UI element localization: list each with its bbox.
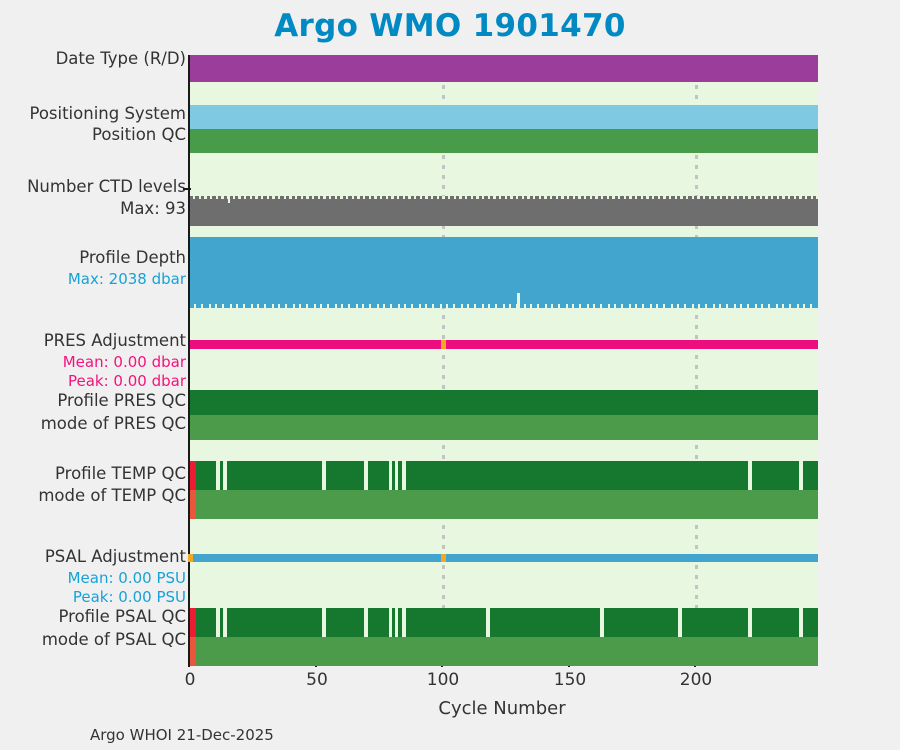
profile-psal-qc-gap <box>223 608 227 637</box>
profile-temp-qc-gap <box>216 461 220 490</box>
profile-temp-qc-gap <box>748 461 752 490</box>
row-label-position-qc: Position QC <box>92 126 186 145</box>
profile-psal-qc-gap <box>364 608 368 637</box>
xtick-label-200: 200 <box>680 670 712 690</box>
row-label-psal-adjustment-peak: Peak: 0.00 PSU <box>73 589 186 606</box>
profile-temp-qc-gap <box>389 461 392 490</box>
row-label-psal-adjustment-mean: Mean: 0.00 PSU <box>68 570 186 587</box>
row-label-pres-adjustment: PRES Adjustment <box>44 332 186 351</box>
row-label-pres-adjustment-peak: Peak: 0.00 dbar <box>68 373 186 390</box>
profile-psal-qc-gap <box>389 608 392 637</box>
page-title: Argo WMO 1901470 <box>0 8 900 44</box>
ctd-levels-axis-stub <box>183 188 191 190</box>
psal-adjustment-marker-cycle-0 <box>188 554 193 562</box>
x-axis-label: Cycle Number <box>188 698 816 719</box>
profile-psal-qc-gap <box>748 608 752 637</box>
band-position-qc <box>190 129 818 153</box>
profile-psal-qc-gap <box>322 608 326 637</box>
profile-psal-qc-gap <box>395 608 398 637</box>
mode-of-psal-qc-bad <box>190 637 196 666</box>
profile-temp-qc-bad <box>190 461 196 490</box>
row-label-profile-depth: Profile Depth <box>79 249 186 268</box>
profile-psal-qc-bad <box>190 608 196 637</box>
pres-adjustment-marker-cycle-100 <box>441 340 446 349</box>
profile-temp-qc-gap <box>364 461 368 490</box>
profile-psal-qc-gap <box>486 608 490 637</box>
band-positioning-system <box>190 105 818 129</box>
profile-depth-shallow-cycle <box>517 293 520 309</box>
band-profile-depth <box>190 237 818 307</box>
row-label-mode-of-pres-qc: mode of PRES QC <box>41 415 186 434</box>
xtick-label-50: 50 <box>306 670 328 690</box>
row-label-number-ctd-levels-max: Max: 93 <box>120 200 186 219</box>
band-profile-pres-qc <box>190 390 818 415</box>
band-date-type <box>190 55 818 82</box>
profile-temp-qc-gap <box>402 461 406 490</box>
row-label-psal-adjustment: PSAL Adjustment <box>45 548 186 567</box>
xtick-label-150: 150 <box>554 670 586 690</box>
profile-psal-qc-gap <box>678 608 682 637</box>
profile-temp-qc-gap <box>322 461 326 490</box>
row-label-positioning-system: Positioning System <box>29 105 186 124</box>
band-number-ctd-levels <box>190 198 818 226</box>
band-mode-of-psal-qc <box>190 637 818 666</box>
row-label-date-type: Date Type (R/D) <box>56 50 186 69</box>
ctd-levels-top-texture <box>190 196 818 199</box>
profile-psal-qc-gap <box>600 608 604 637</box>
line-pres-adjustment <box>190 340 818 349</box>
mode-of-temp-qc-bad <box>190 490 196 519</box>
band-profile-psal-qc <box>190 608 818 637</box>
profile-depth-bottom-texture <box>190 304 818 308</box>
profile-psal-qc-gap <box>799 608 803 637</box>
row-label-profile-temp-qc: Profile TEMP QC <box>55 465 186 484</box>
xtick-label-0: 0 <box>185 670 196 690</box>
row-label-profile-depth-max: Max: 2038 dbar <box>68 271 186 288</box>
profile-temp-qc-gap <box>223 461 227 490</box>
band-profile-temp-qc <box>190 461 818 490</box>
line-psal-adjustment <box>190 554 818 562</box>
row-label-number-ctd-levels: Number CTD levels <box>27 178 186 197</box>
band-mode-of-temp-qc <box>190 490 818 519</box>
row-label-mode-of-psal-qc: mode of PSAL QC <box>42 631 186 650</box>
argo-timeline-plot <box>188 55 818 660</box>
band-mode-of-pres-qc <box>190 415 818 440</box>
profile-temp-qc-gap <box>799 461 803 490</box>
profile-temp-qc-gap <box>395 461 398 490</box>
psal-adjustment-marker-cycle-100 <box>441 554 446 562</box>
xtick-label-100: 100 <box>427 670 459 690</box>
profile-psal-qc-gap <box>402 608 406 637</box>
row-label-mode-of-temp-qc: mode of TEMP QC <box>38 487 186 506</box>
row-label-pres-adjustment-mean: Mean: 0.00 dbar <box>63 354 186 371</box>
row-label-profile-psal-qc: Profile PSAL QC <box>58 608 186 627</box>
ctd-levels-notch <box>228 196 230 203</box>
profile-psal-qc-gap <box>216 608 220 637</box>
footer-credit: Argo WHOI 21-Dec-2025 <box>90 726 274 744</box>
row-label-profile-pres-qc: Profile PRES QC <box>57 392 186 411</box>
